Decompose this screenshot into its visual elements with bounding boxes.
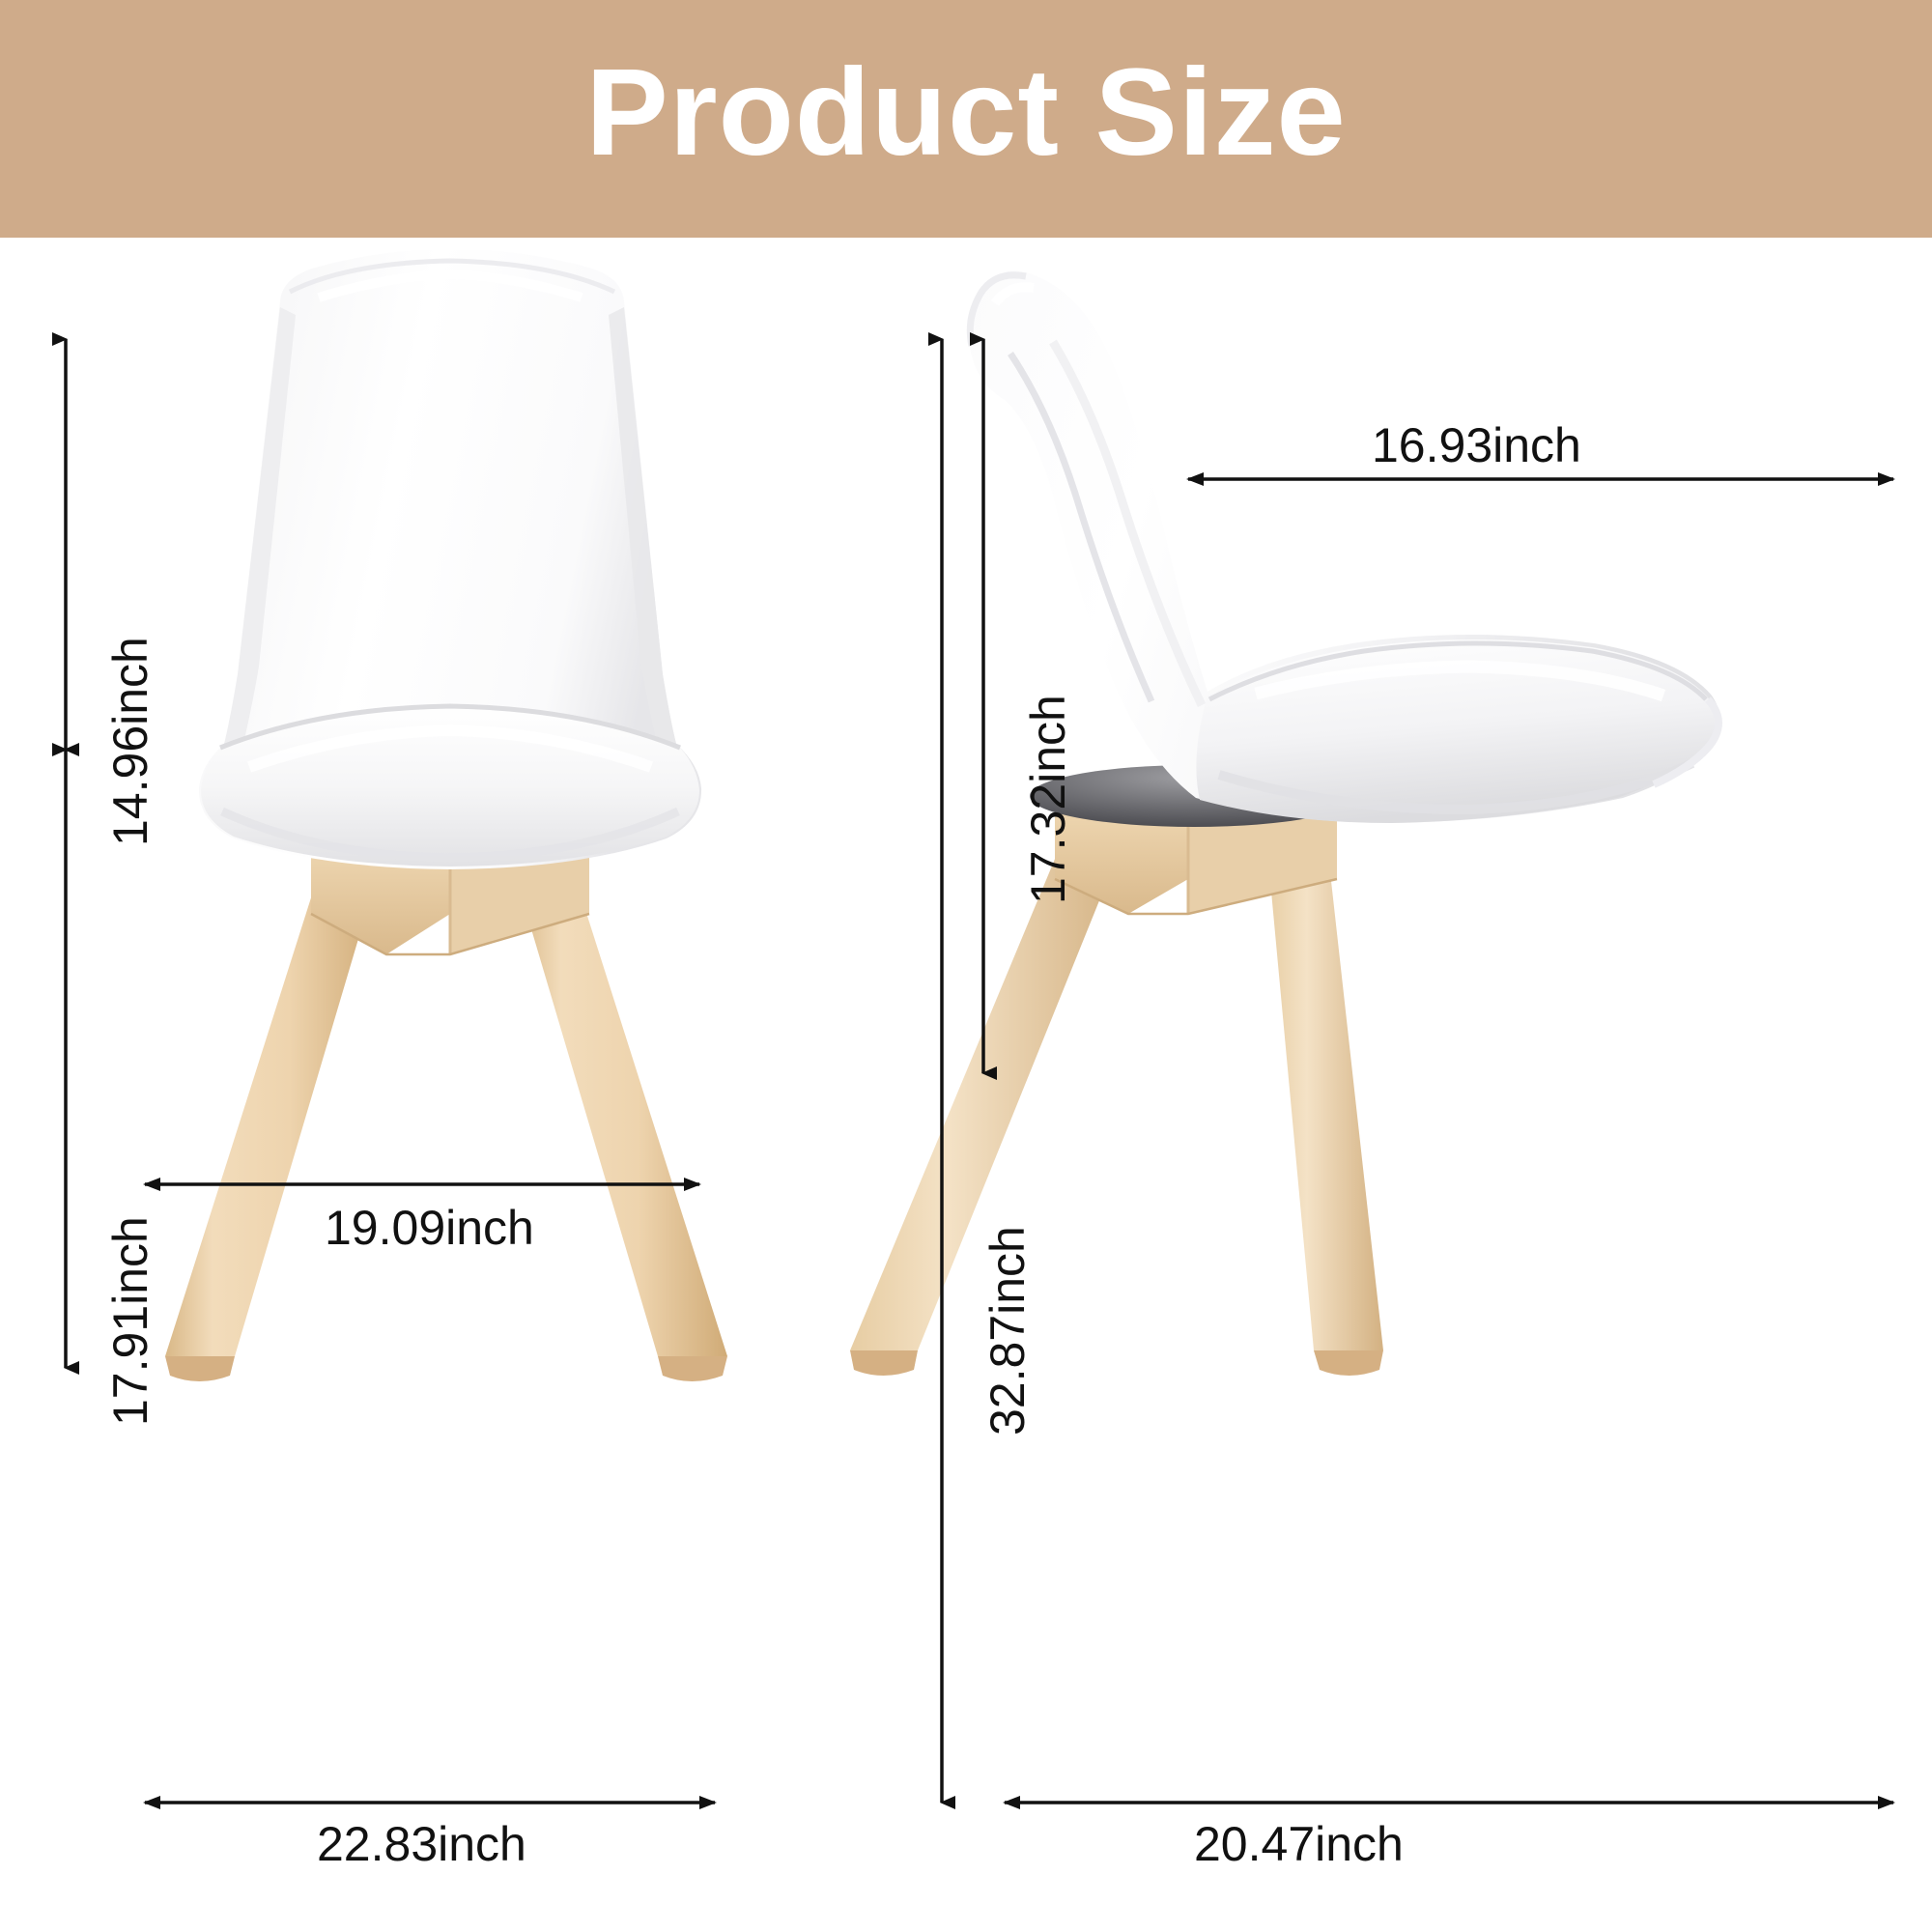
dim-label-front-overall-width: 22.83inch [317, 1820, 526, 1868]
dim-label-side-overall-depth: 20.47inch [1194, 1820, 1404, 1868]
header-banner: Product Size [0, 0, 1932, 238]
dim-label-side-seat-depth: 16.93inch [1372, 421, 1581, 469]
dim-label-side-overall-height: 32.87inch [983, 1226, 1032, 1435]
side-leg-front-foot [1314, 1350, 1383, 1376]
product-size-diagram: Product Size [0, 0, 1932, 1932]
figure-area: 14.96inch 17.91inch 19.09inch 22.83inch … [0, 238, 1932, 1932]
dim-label-front-back-height: 14.96inch [106, 637, 155, 846]
front-leg-right-foot [658, 1356, 727, 1381]
front-leg-right [514, 870, 727, 1356]
dim-label-front-seat-width: 19.09inch [325, 1204, 534, 1252]
side-view-chair [850, 270, 1719, 1376]
dim-label-side-backrest-height: 17.32inch [1024, 695, 1072, 904]
side-leg-front [1265, 829, 1383, 1350]
side-leg-rear-foot [850, 1350, 918, 1376]
front-leg-left-foot [165, 1356, 235, 1381]
dim-label-front-leg-height: 17.91inch [106, 1216, 155, 1426]
page-title: Product Size [585, 51, 1346, 175]
chair-illustrations [0, 238, 1932, 1932]
